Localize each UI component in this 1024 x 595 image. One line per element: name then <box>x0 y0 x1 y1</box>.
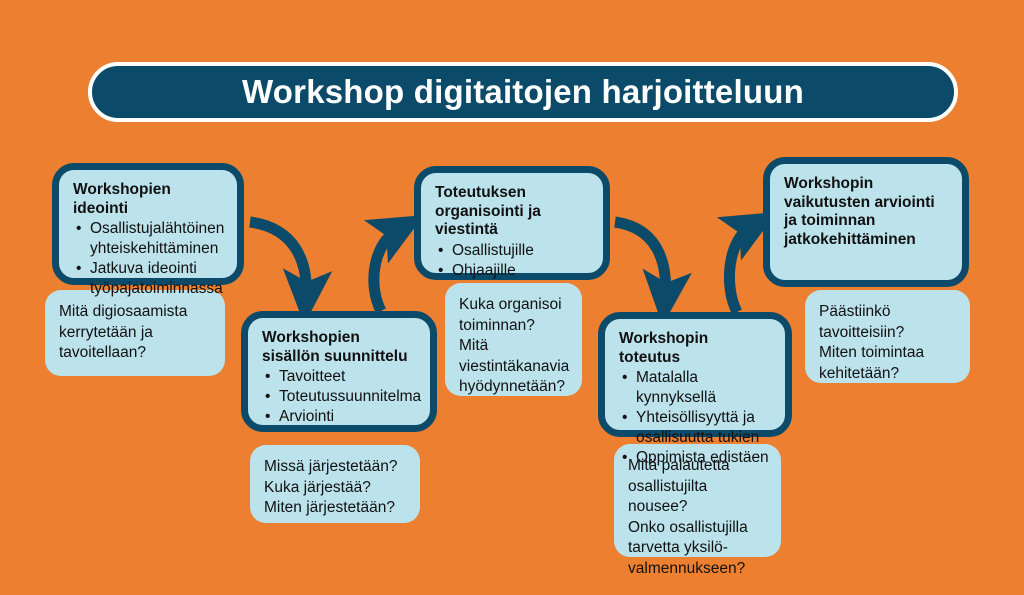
stage-bullet: Tavoitteet <box>279 367 416 387</box>
arrow-box4-to-box5 <box>729 226 752 312</box>
stage-bullet: Osallistujalähtöinen yhteiskehittäminen <box>90 219 223 259</box>
stage-bullet: Ohjaajille <box>452 261 589 281</box>
stage-bullet: Toteutussuunnitelma <box>279 387 416 407</box>
stage-bullet: Matalalla kynnyksellä <box>636 368 771 408</box>
note-card-5: Päästiinkö tavoitteisiin? Miten toiminta… <box>805 290 970 383</box>
stage-box-ideointi[interactable]: Workshopien ideointi Osallistujalähtöine… <box>52 163 244 285</box>
stage-box-toteutus[interactable]: Workshopin toteutus Matalalla kynnyksell… <box>598 312 792 437</box>
stage-bullet-list: OsallistujilleOhjaajille <box>435 241 589 281</box>
note-card-3: Kuka organisoi toiminnan? Mitä viestintä… <box>445 283 582 396</box>
stage-bullet-list: Matalalla kynnykselläYhteisöllisyyttä ja… <box>619 368 771 467</box>
stage-box-organisointi-viestinta[interactable]: Toteutuksen organisointi ja viestintä Os… <box>414 166 610 280</box>
arrow-box1-to-box2 <box>250 222 306 296</box>
stage-bullet: Arviointi <box>279 407 416 427</box>
stage-title: Toteutuksen organisointi ja viestintä <box>435 184 589 240</box>
stage-bullet: Jatkuva ideointi työpajatoiminnassa <box>90 259 223 299</box>
arrow-box2-to-box3 <box>374 229 399 311</box>
note-card-1: Mitä digiosaamista kerrytetään ja tavoit… <box>45 290 225 376</box>
page-title: Workshop digitaitojen harjoitteluun <box>242 73 804 111</box>
stage-box-vaikutusten-arviointi[interactable]: Workshopin vaikutusten arviointi ja toim… <box>763 157 969 287</box>
stage-title: Workshopin vaikutusten arviointi ja toim… <box>784 175 948 249</box>
stage-title: Workshopin toteutus <box>619 330 771 367</box>
stage-title: Workshopien ideointi <box>73 181 223 218</box>
page-title-banner: Workshop digitaitojen harjoitteluun <box>88 62 958 122</box>
stage-bullet: Osallistujille <box>452 241 589 261</box>
arrow-box3-to-box4 <box>615 222 665 297</box>
stage-bullet-list: TavoitteetToteutussuunnitelmaArviointi <box>262 367 416 426</box>
stage-box-sisallon-suunnittelu[interactable]: Workshopien sisällön suunnittelu Tavoitt… <box>241 311 437 432</box>
stage-title: Workshopien sisällön suunnittelu <box>262 329 416 366</box>
note-card-2: Missä järjestetään? Kuka järjestää? Mite… <box>250 445 420 523</box>
stage-bullet-list: Osallistujalähtöinen yhteiskehittäminenJ… <box>73 219 223 298</box>
stage-bullet: Oppimista edistäen <box>636 448 771 468</box>
infographic-canvas: Workshop digitaitojen harjoitteluun Mitä… <box>0 0 1024 595</box>
stage-bullet: Yhteisöllisyyttä ja osallisuutta tukien <box>636 408 771 448</box>
